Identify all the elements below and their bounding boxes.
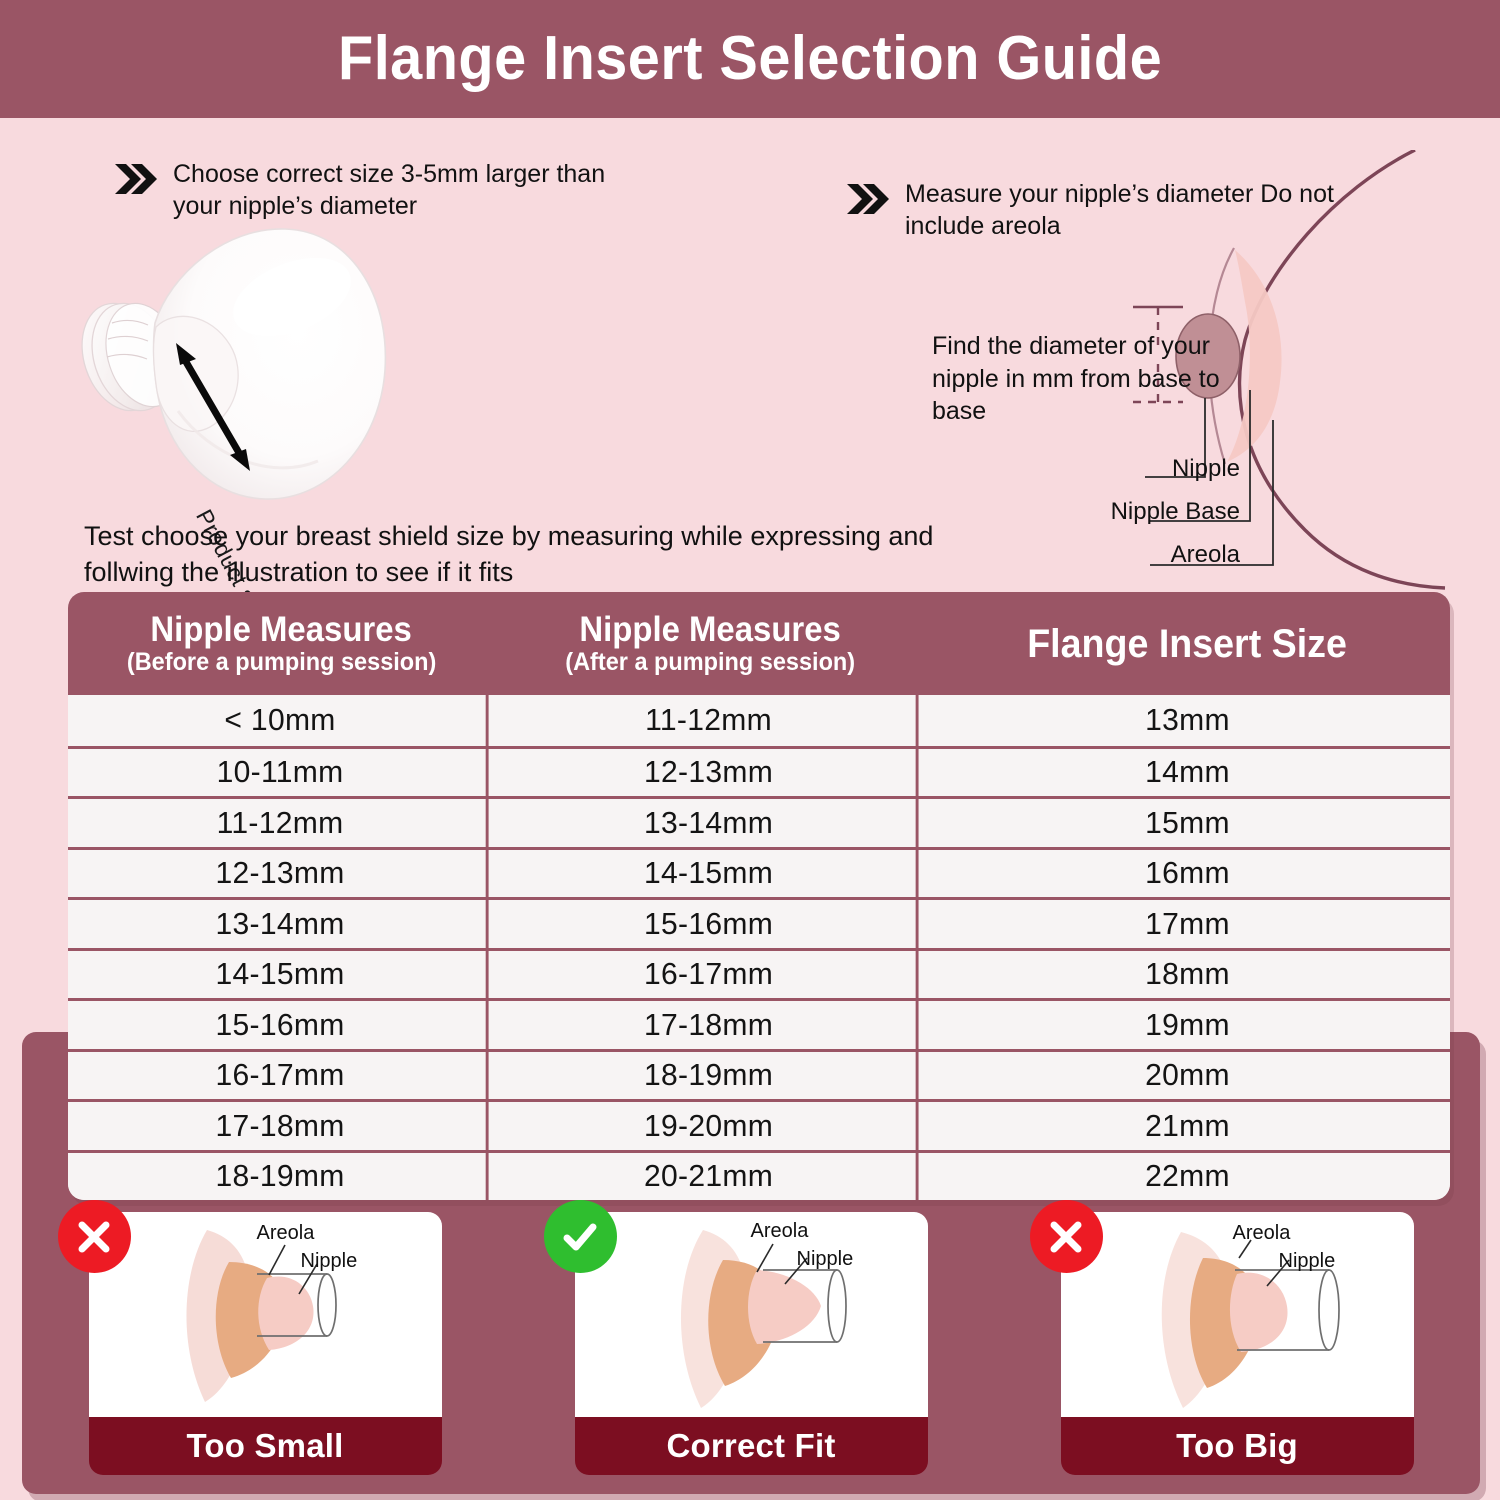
areola-label: Areola (1020, 541, 1240, 569)
fit-card: AreolaNippleCorrect Fit (575, 1212, 928, 1475)
fit-card: AreolaNippleToo Big (1061, 1212, 1414, 1475)
nipple-label: Nipple (797, 1248, 854, 1271)
cell-before: 17-18mm (74, 1102, 488, 1150)
cell-before: 14-15mm (74, 951, 488, 999)
cell-before: < 10mm (74, 695, 488, 746)
cell-size: 14mm (933, 749, 1442, 797)
table-row: 13-14mm15-16mm17mm (68, 897, 1450, 948)
page-header: Flange Insert Selection Guide (0, 0, 1500, 118)
cell-after: 12-13mm (501, 749, 918, 797)
table-row: 14-15mm16-17mm18mm (68, 948, 1450, 999)
fit-illustration: AreolaNipple (575, 1212, 928, 1417)
cell-before: 13-14mm (74, 900, 488, 948)
column-header-flange-size: Flange Insert Size (925, 592, 1450, 695)
cell-after: 14-15mm (501, 850, 918, 898)
fit-card: AreolaNippleToo Small (89, 1212, 442, 1475)
cell-after: 17-18mm (501, 1001, 918, 1049)
table-row: 17-18mm19-20mm21mm (68, 1099, 1450, 1150)
cell-size: 20mm (933, 1052, 1442, 1100)
flange-insert-illustration (60, 205, 420, 525)
cell-size: 22mm (933, 1153, 1442, 1201)
measuring-instructions-text: Test choose your breast shield size by m… (84, 518, 1014, 590)
double-chevron-right-icon (113, 162, 159, 201)
cell-after: 11-12mm (501, 695, 918, 746)
cell-before: 12-13mm (74, 850, 488, 898)
table-row: 16-17mm18-19mm20mm (68, 1049, 1450, 1100)
cell-size: 18mm (933, 951, 1442, 999)
cross-icon (58, 1200, 131, 1273)
areola-label: Areola (257, 1222, 315, 1245)
table-row: 15-16mm17-18mm19mm (68, 998, 1450, 1049)
cross-icon (1030, 1200, 1103, 1273)
fit-illustration: AreolaNipple (89, 1212, 442, 1417)
cell-before: 15-16mm (74, 1001, 488, 1049)
fit-comparison-cards: AreolaNippleToo Small AreolaNippleCorrec… (22, 1212, 1480, 1475)
cell-before: 10-11mm (74, 749, 488, 797)
fit-card-label: Too Small (89, 1417, 442, 1475)
cell-before: 18-19mm (74, 1153, 488, 1201)
areola-label: Areola (1233, 1222, 1291, 1245)
cell-size: 19mm (933, 1001, 1442, 1049)
diameter-instruction-text: Find the diameter of your nipple in mm f… (932, 330, 1232, 428)
nipple-label: Nipple (301, 1250, 358, 1273)
cell-before: 16-17mm (74, 1052, 488, 1100)
cell-after: 15-16mm (501, 900, 918, 948)
cell-after: 18-19mm (501, 1052, 918, 1100)
flange-size-table: Nipple Measures (Before a pumping sessio… (68, 592, 1450, 1200)
column-header-after: Nipple Measures (After a pumping session… (495, 592, 925, 695)
table-row: 10-11mm12-13mm14mm (68, 746, 1450, 797)
cell-size: 21mm (933, 1102, 1442, 1150)
table-row: 18-19mm20-21mm22mm (68, 1150, 1450, 1201)
cell-size: 16mm (933, 850, 1442, 898)
column-header-before: Nipple Measures (Before a pumping sessio… (68, 592, 495, 695)
table-row: < 10mm11-12mm13mm (68, 695, 1450, 746)
double-chevron-right-icon (845, 182, 891, 221)
cell-after: 19-20mm (501, 1102, 918, 1150)
check-icon (544, 1200, 617, 1273)
cell-before: 11-12mm (74, 799, 488, 847)
nipple-label: Nipple (1040, 455, 1240, 483)
table-header-row: Nipple Measures (Before a pumping sessio… (68, 592, 1450, 695)
nipple-label: Nipple (1279, 1250, 1336, 1273)
cell-size: 17mm (933, 900, 1442, 948)
fit-card-label: Correct Fit (575, 1417, 928, 1475)
cell-size: 15mm (933, 799, 1442, 847)
areola-label: Areola (751, 1220, 809, 1243)
table-row: 11-12mm13-14mm15mm (68, 796, 1450, 847)
nipple-base-label: Nipple Base (1000, 498, 1240, 526)
table-row: 12-13mm14-15mm16mm (68, 847, 1450, 898)
cell-size: 13mm (933, 695, 1442, 746)
fit-card-label: Too Big (1061, 1417, 1414, 1475)
flange-insert-product-image: Product size (60, 205, 420, 525)
fit-illustration: AreolaNipple (1061, 1212, 1414, 1417)
cell-after: 16-17mm (501, 951, 918, 999)
page-title: Flange Insert Selection Guide (338, 28, 1162, 90)
table-body: < 10mm11-12mm13mm10-11mm12-13mm14mm11-12… (68, 695, 1450, 1200)
cell-after: 13-14mm (501, 799, 918, 847)
cell-after: 20-21mm (501, 1153, 918, 1201)
